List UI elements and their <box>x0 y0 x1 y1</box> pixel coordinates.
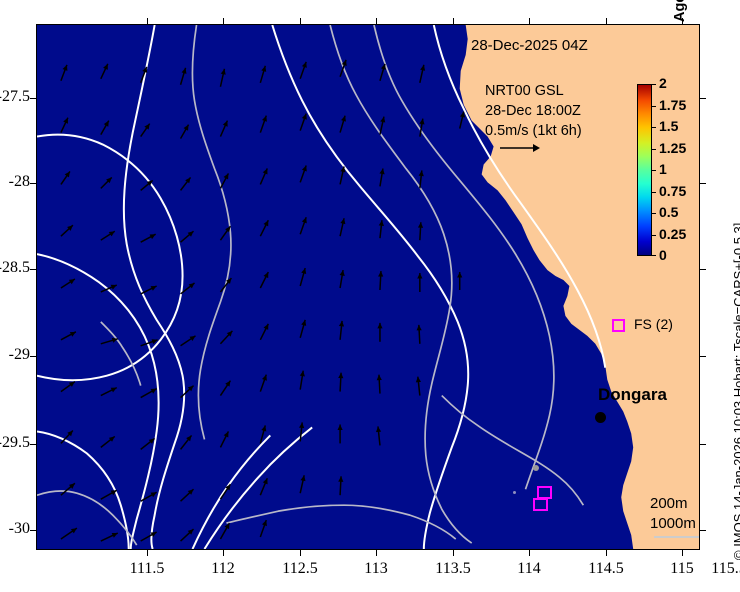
x-tick-label-5: 114 <box>494 560 564 578</box>
colorbar-tick-label-3: 1.25 <box>659 140 686 156</box>
depth-key-rule <box>654 536 700 538</box>
colorbar-tick-label-6: 0.5 <box>659 204 678 220</box>
colorbar-tick-label-2: 1.5 <box>659 118 678 134</box>
colorbar-tick-label-8: 0 <box>659 247 667 263</box>
y-tick-label-4: -29.5 <box>0 434 30 452</box>
x-tick-label-2: 112.5 <box>265 560 335 578</box>
colorbar-tick-label-1: 1.75 <box>659 97 686 113</box>
vector-scale-arrow <box>499 141 541 155</box>
y-tick-label-0: -27.5 <box>0 88 30 106</box>
y-tick-label-2: -28.5 <box>0 259 30 277</box>
product-line-2: 28-Dec 18:00Z <box>485 103 581 119</box>
colorbar-tick-label-0: 2 <box>659 75 667 91</box>
x-tick-label-4: 113.5 <box>418 560 488 578</box>
colorbar-tick-label-4: 1 <box>659 161 667 177</box>
map-plot-area: 28-Dec-2025 04Z NRT00 GSL 28-Dec 18:00Z … <box>36 24 700 550</box>
colorbar-tick-label-7: 0.25 <box>659 226 686 242</box>
observation-dot-small <box>513 491 516 494</box>
observation-dot <box>533 465 539 471</box>
y-tick-label-5: -30 <box>0 520 30 538</box>
depth-label-200m: 200m <box>650 495 688 512</box>
credit-text: © IMOS 14-Jan-2026 10:03 Hobart; Tscale=… <box>731 223 740 560</box>
x-tick-label-8: 115.5 <box>694 560 740 578</box>
title-date: 28-Dec-2025 04Z <box>471 37 588 54</box>
map-canvas <box>37 25 699 549</box>
y-tick-label-1: -28 <box>0 173 30 191</box>
figure-root: 28-Dec-2025 04Z NRT00 GSL 28-Dec 18:00Z … <box>0 0 740 592</box>
y-tick-label-3: -29 <box>0 346 30 364</box>
x-tick-label-0: 111.5 <box>112 560 182 578</box>
colorbar-gradient <box>637 84 652 256</box>
dongara-label: Dongara <box>598 385 667 405</box>
fs-legend-marker <box>612 319 625 332</box>
dongara-city-dot <box>595 412 606 423</box>
x-tick-label-6: 114.5 <box>571 560 641 578</box>
observation-marker-2 <box>533 498 548 511</box>
x-tick-label-1: 112 <box>188 560 258 578</box>
product-line-3: 0.5m/s (1kt 6h) <box>485 123 582 139</box>
fs-legend-label: FS (2) <box>634 316 673 332</box>
product-line-1: NRT00 GSL <box>485 83 564 99</box>
depth-label-1000m: 1000m <box>650 515 696 532</box>
colorbar-title: Age (days) of filled SST (wrt latest) <box>672 0 688 22</box>
x-tick-label-3: 113 <box>341 560 411 578</box>
colorbar-tick-label-5: 0.75 <box>659 183 686 199</box>
